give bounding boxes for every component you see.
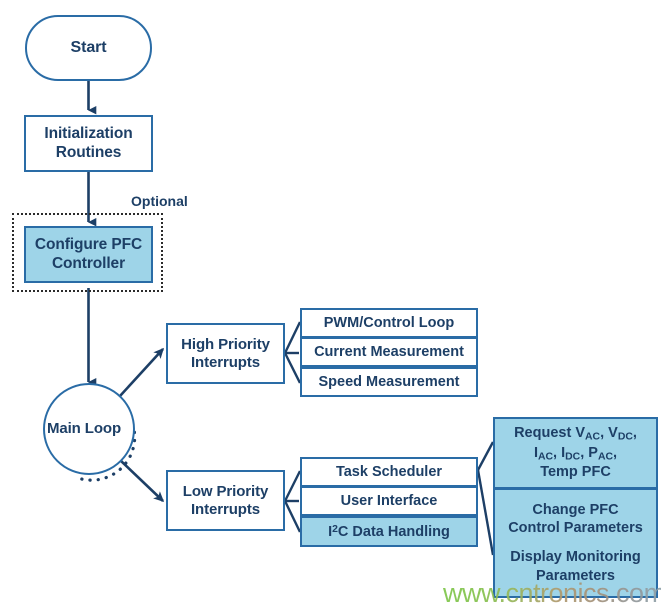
- site-watermark: www.cntronics.com: [443, 578, 661, 609]
- task-row-i2c-data-handling[interactable]: I2C Data Handling: [300, 516, 478, 547]
- request-vdc-sub: DC: [618, 431, 633, 442]
- task-row-i2c-data-handling-label: I2C Data Handling: [328, 524, 450, 540]
- panel-request-line-1: Request VAC, VDC,: [514, 424, 637, 444]
- connector-mainloop-to-high: [120, 349, 163, 396]
- request-idc-sub: DC: [565, 451, 580, 462]
- request-line1-suffix: ,: [633, 425, 637, 441]
- request-line2-suffix: ,: [613, 445, 617, 461]
- high-priority-line-2: Interrupts: [181, 354, 270, 372]
- panel-i2c-request[interactable]: Request VAC, VDC, IAC, IDC, PAC, Temp PF…: [493, 417, 658, 489]
- node-main-loop[interactable]: Main Loop: [43, 383, 135, 475]
- node-initialization-routines[interactable]: Initialization Routines: [24, 115, 153, 172]
- task-row-speed-measurement[interactable]: Speed Measurement: [300, 367, 478, 397]
- node-high-priority-label: High Priority Interrupts: [181, 336, 270, 371]
- init-line-2: Routines: [44, 144, 132, 162]
- task-row-task-scheduler-label: Task Scheduler: [336, 464, 442, 480]
- panel-change-line-1: Change PFC: [532, 501, 618, 520]
- node-configure-pfc-controller[interactable]: Configure PFC Controller: [24, 226, 153, 283]
- node-low-priority-interrupts[interactable]: Low Priority Interrupts: [166, 470, 285, 531]
- task-row-user-interface[interactable]: User Interface: [300, 486, 478, 516]
- task-row-pwm-control-loop-label: PWM/Control Loop: [324, 315, 454, 331]
- connector-low-fanout: [285, 471, 300, 532]
- request-pac-sub: AC: [598, 451, 613, 462]
- panel-request-line-3: Temp PFC: [540, 463, 611, 482]
- optional-group-label: Optional: [131, 193, 188, 209]
- task-row-user-interface-label: User Interface: [341, 493, 438, 509]
- node-configure-pfc-label: Configure PFC Controller: [35, 236, 142, 273]
- request-prefix: Request V: [514, 425, 585, 441]
- node-high-priority-interrupts[interactable]: High Priority Interrupts: [166, 323, 285, 384]
- node-main-loop-label: Main Loop: [47, 420, 121, 438]
- request-idc: , I: [553, 445, 565, 461]
- task-row-current-measurement-label: Current Measurement: [314, 344, 464, 360]
- node-initialization-routines-label: Initialization Routines: [44, 125, 132, 162]
- node-start[interactable]: Start: [25, 15, 152, 81]
- task-row-task-scheduler[interactable]: Task Scheduler: [300, 457, 478, 487]
- task-row-pwm-control-loop[interactable]: PWM/Control Loop: [300, 308, 478, 338]
- request-vac-sub: AC: [585, 431, 600, 442]
- low-priority-line-2: Interrupts: [183, 501, 268, 519]
- request-mid: , V: [600, 425, 618, 441]
- connector-mainloop-to-low: [120, 460, 163, 501]
- connector-i2c-to-panel: [478, 442, 493, 555]
- panel-change-line-2: Control Parameters: [508, 519, 643, 538]
- init-line-1: Initialization: [44, 125, 132, 143]
- high-priority-line-1: High Priority: [181, 336, 270, 354]
- low-priority-line-1: Low Priority: [183, 483, 268, 501]
- task-row-current-measurement[interactable]: Current Measurement: [300, 337, 478, 367]
- request-pac: , P: [580, 445, 598, 461]
- configure-line-1: Configure PFC: [35, 236, 142, 254]
- panel-display-line-1: Display Monitoring: [510, 548, 641, 567]
- request-iac-sub: AC: [538, 451, 553, 462]
- connector-high-fanout: [285, 322, 300, 383]
- task-row-speed-measurement-label: Speed Measurement: [318, 374, 459, 390]
- node-start-label: Start: [71, 39, 107, 58]
- node-low-priority-label: Low Priority Interrupts: [183, 483, 268, 518]
- configure-line-2: Controller: [35, 255, 142, 273]
- panel-request-line-2: IAC, IDC, PAC,: [534, 444, 617, 464]
- flowchart-diagram: Optional Start Initialization Routines C…: [0, 0, 661, 609]
- i2c-suffix: C Data Handling: [338, 524, 450, 540]
